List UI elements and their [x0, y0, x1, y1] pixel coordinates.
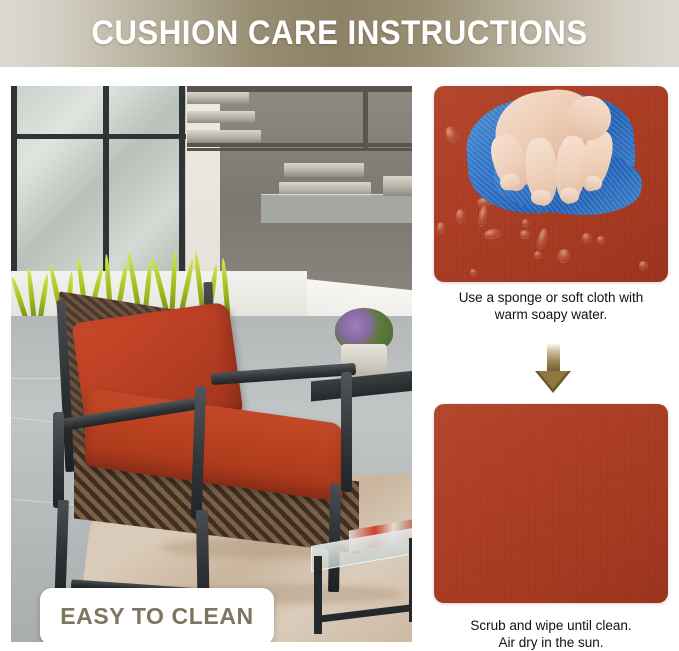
easy-to-clean-badge: EASY TO CLEAN [40, 588, 274, 642]
water-droplet [582, 233, 592, 242]
window-frame-right [179, 86, 185, 286]
arrow-head-inner [538, 371, 568, 389]
water-droplet [597, 236, 605, 243]
water-droplet [437, 222, 445, 233]
glass-window [11, 86, 186, 286]
stair-step-1 [187, 92, 249, 104]
stair-shadow-lower [187, 148, 412, 151]
step-2-caption-line-1: Scrub and wipe until clean. [434, 617, 668, 634]
fingernail [531, 190, 551, 205]
main-content: EASY TO CLEAN [0, 67, 679, 642]
header-banner: CUSHION CARE INSTRUCTIONS [0, 0, 679, 67]
water-droplet [470, 269, 477, 275]
step-2-caption: Scrub and wipe until clean. Air dry in t… [434, 617, 668, 651]
stair-shadow-mid [187, 143, 412, 147]
water-droplet [522, 219, 529, 226]
page-title: CUSHION CARE INSTRUCTIONS [27, 0, 652, 67]
water-droplet [534, 251, 542, 258]
steps-column: Use a sponge or soft cloth with warm soa… [434, 86, 668, 642]
chair-arm-right-post [341, 372, 352, 492]
stair-step-2 [187, 111, 255, 123]
step-2-caption-line-2: Air dry in the sun. [434, 634, 668, 651]
step-2-photo-clean-fabric [434, 404, 668, 603]
window-frame-horizontal [11, 134, 186, 139]
water-droplet [639, 261, 648, 269]
water-droplet [520, 230, 530, 238]
chair-leg-back-right [328, 484, 341, 592]
stair-step-3 [187, 130, 261, 143]
glass-railing [261, 194, 412, 223]
easy-to-clean-label: EASY TO CLEAN [60, 603, 254, 630]
arrow-down-icon [535, 343, 571, 393]
arrow-container [434, 343, 668, 401]
step-1-caption-line-2: warm soapy water. [434, 306, 668, 323]
rust-fabric-background-clean [434, 404, 668, 603]
water-droplet [456, 209, 465, 222]
arrow-shaft [547, 343, 560, 373]
stair-landing [383, 176, 412, 196]
window-frame-left [11, 86, 17, 286]
stair-step-4 [284, 163, 364, 177]
stair-post [363, 86, 368, 148]
chair-arm-left-post [53, 412, 64, 508]
hero-photo-patio-chair: EASY TO CLEAN [11, 86, 412, 642]
step-1-photo-hand-wiping-fabric [434, 86, 668, 282]
step-1-caption-line-1: Use a sponge or soft cloth with [434, 289, 668, 306]
step-1-caption: Use a sponge or soft cloth with warm soa… [434, 289, 668, 323]
